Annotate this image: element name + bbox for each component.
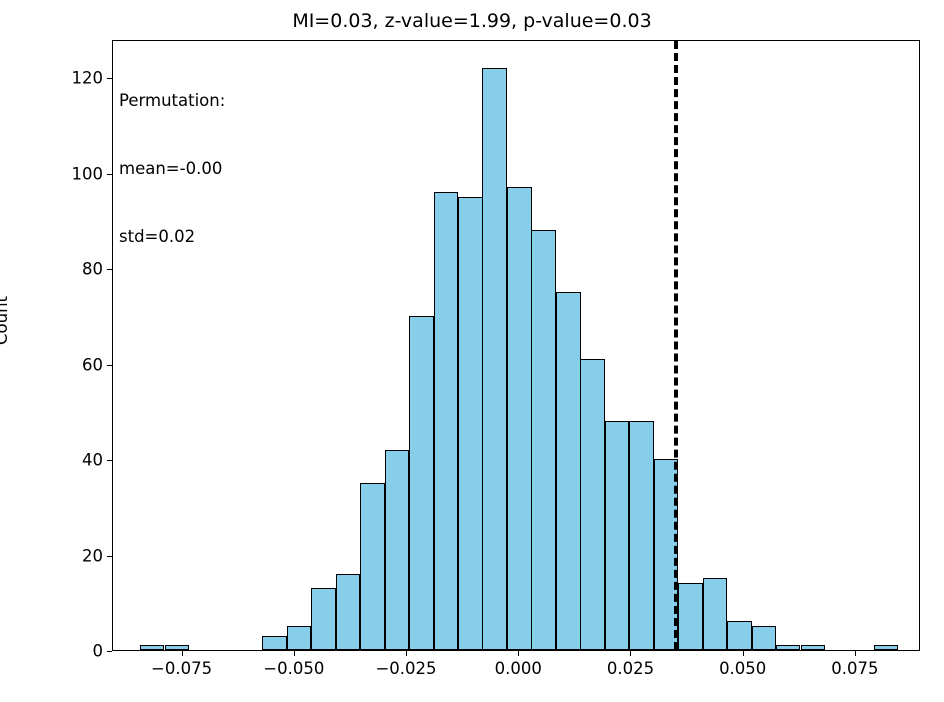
histogram-figure: MI=0.03, z-value=1.99, p-value=0.03 Coun… xyxy=(0,0,944,702)
histogram-bar xyxy=(287,626,311,650)
x-tick-label: −0.025 xyxy=(375,659,436,678)
histogram-bar xyxy=(605,421,629,650)
x-tick-label: −0.075 xyxy=(151,659,212,678)
histogram-bar xyxy=(727,621,751,650)
x-tick-label: 0.075 xyxy=(831,659,878,678)
histogram-bar xyxy=(140,645,164,650)
y-tick-label: 20 xyxy=(82,546,103,565)
y-tick-label: 60 xyxy=(82,355,103,374)
y-tick-label: 120 xyxy=(72,69,104,88)
y-tick-label: 80 xyxy=(82,260,103,279)
x-tick-mark xyxy=(182,651,183,656)
histogram-bar xyxy=(801,645,825,650)
y-tick-label: 0 xyxy=(93,642,104,661)
histogram-bar xyxy=(629,421,653,650)
histogram-bar xyxy=(556,292,580,650)
histogram-bar xyxy=(311,588,335,650)
histogram-bar xyxy=(385,450,409,650)
histogram-bar xyxy=(531,230,555,650)
histogram-bar xyxy=(336,574,360,650)
histogram-bar xyxy=(262,636,286,650)
histogram-bars xyxy=(113,41,919,650)
y-tick-label: 40 xyxy=(82,451,103,470)
y-tick-mark xyxy=(107,651,112,652)
histogram-bar xyxy=(434,192,458,650)
histogram-bar xyxy=(874,645,898,650)
histogram-bar xyxy=(165,645,189,650)
plot-area: Permutation: mean=-0.00 std=0.02 xyxy=(112,40,920,651)
x-tick-label: −0.050 xyxy=(263,659,324,678)
x-tick-label: 0.025 xyxy=(607,659,654,678)
x-tick-mark xyxy=(406,651,407,656)
x-tick-mark xyxy=(855,651,856,656)
observed-mi-vline xyxy=(674,41,678,650)
x-tick-label: 0.050 xyxy=(719,659,766,678)
histogram-bar xyxy=(507,187,531,650)
x-tick-mark xyxy=(294,651,295,656)
chart-title: MI=0.03, z-value=1.99, p-value=0.03 xyxy=(0,10,944,32)
histogram-bar xyxy=(409,316,433,650)
x-tick-mark xyxy=(518,651,519,656)
x-tick-mark xyxy=(630,651,631,656)
histogram-bar xyxy=(678,583,702,650)
histogram-bar xyxy=(458,197,482,650)
histogram-bar xyxy=(752,626,776,650)
y-axis-label: Count xyxy=(0,296,11,345)
y-tick-label: 100 xyxy=(72,164,104,183)
histogram-bar xyxy=(703,578,727,650)
histogram-bar xyxy=(776,645,800,650)
histogram-bar xyxy=(482,68,506,650)
histogram-bar xyxy=(580,359,604,650)
x-tick-label: 0.000 xyxy=(495,659,542,678)
histogram-bar xyxy=(360,483,384,650)
x-tick-mark xyxy=(743,651,744,656)
